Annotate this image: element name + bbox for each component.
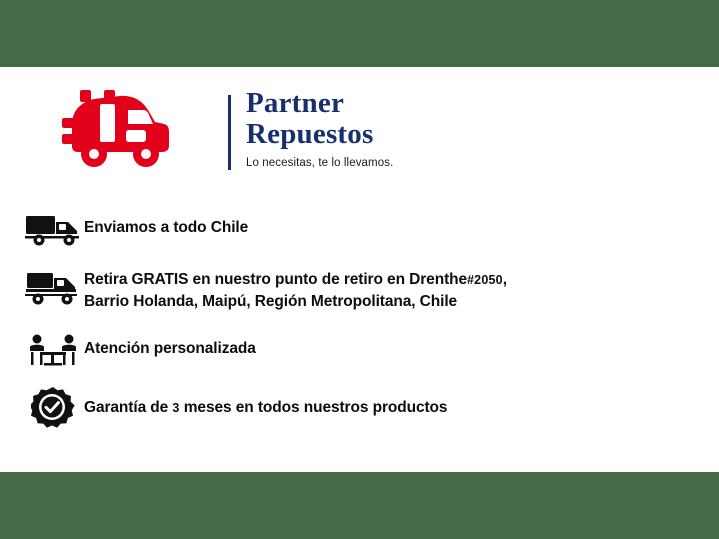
pickup-truck-icon	[22, 267, 84, 309]
logo-divider	[228, 95, 231, 170]
feature-pickup-line2: Barrio Holanda, Maipú, Región Metropolit…	[84, 293, 457, 310]
customer-service-desk-icon	[22, 329, 84, 371]
feature-row-attention: Atención personalizada	[22, 329, 682, 371]
car-gear-logo-icon	[60, 90, 170, 172]
feature-row-pickup: Retira GRATIS en nuestro punto de retiro…	[22, 267, 682, 312]
brand-logo-block: Partner Repuestos Lo necesitas, te lo ll…	[60, 90, 400, 190]
warranty-badge-check-icon	[22, 388, 84, 430]
feature-warranty-suffix: meses en todos nuestros productos	[180, 399, 448, 416]
feature-text-warranty: Garantía de 3 meses en todos nuestros pr…	[84, 388, 682, 419]
feature-row-shipping: Enviamos a todo Chile	[22, 208, 682, 250]
brand-text-block: Partner Repuestos Lo necesitas, te lo ll…	[246, 88, 486, 169]
feature-pickup-line1: Retira GRATIS en nuestro punto de retiro…	[84, 271, 467, 288]
feature-row-warranty: Garantía de 3 meses en todos nuestros pr…	[22, 388, 682, 430]
feature-text-attention: Atención personalizada	[84, 329, 682, 359]
feature-warranty-prefix: Garantía de	[84, 399, 172, 416]
feature-text-pickup: Retira GRATIS en nuestro punto de retiro…	[84, 267, 682, 312]
banner-canvas: Partner Repuestos Lo necesitas, te lo ll…	[0, 0, 719, 539]
feature-warranty-number: 3	[172, 401, 179, 415]
brand-name-line-2: Repuestos	[246, 119, 486, 150]
feature-pickup-comma: ,	[503, 271, 507, 288]
brand-name-line-1: Partner	[246, 88, 486, 119]
features-list: Enviamos a todo Chile	[22, 208, 682, 447]
brand-tagline: Lo necesitas, te lo llevamos.	[246, 157, 486, 169]
feature-text-shipping: Enviamos a todo Chile	[84, 208, 682, 238]
feature-pickup-number: #2050	[467, 273, 503, 287]
delivery-truck-icon	[22, 208, 84, 250]
